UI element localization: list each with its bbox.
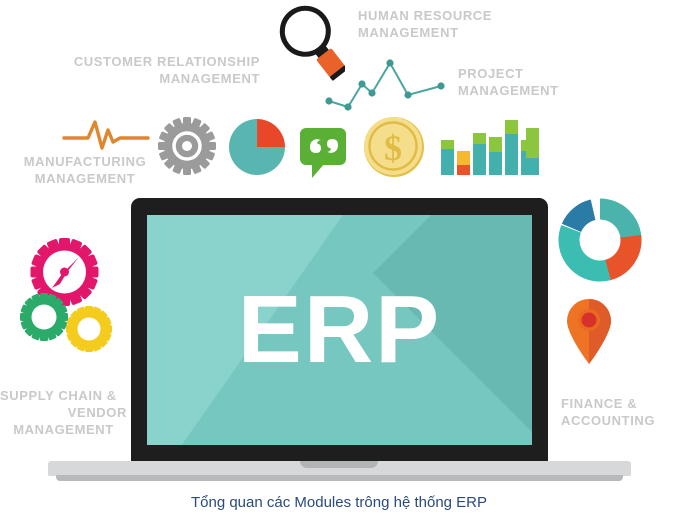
label-supply-chain-vendor-management: SUPPLY CHAIN & VENDOR MANAGEMENT (0, 388, 127, 439)
coin-dollar-icon: $ (363, 116, 425, 178)
gear-icon (158, 117, 216, 175)
erp-modules-infographic: CUSTOMER RELATIONSHIP MANAGEMENT HUMAN R… (0, 0, 678, 528)
laptop-base-top (48, 461, 631, 476)
bar-chart-icon-last-bar (525, 117, 541, 175)
label-finance-accounting: FINANCE & ACCOUNTING (561, 396, 678, 430)
pie-chart-icon (228, 118, 286, 176)
label-manufacturing-management: MANUFACTURING MANAGEMENT (5, 154, 165, 188)
scm-line-1: SUPPLY CHAIN & (0, 388, 127, 405)
laptop-base-notch (300, 461, 378, 468)
scm-line-2: VENDOR (0, 405, 127, 422)
label-project-management: PROJECT MANAGEMENT (458, 66, 658, 100)
laptop-base-bottom (56, 475, 623, 481)
svg-text:$: $ (384, 128, 402, 168)
laptop-lid: ERP (131, 198, 548, 463)
laptop-screen: ERP (147, 215, 532, 445)
speech-bubble-icon (300, 128, 350, 180)
donut-chart-icon (557, 197, 643, 283)
scm-line-3: MANAGEMENT (0, 422, 127, 439)
label-human-resource-management: HUMAN RESOURCE MANAGEMENT (358, 8, 558, 42)
caption: Tổng quan các Modules trông hệ thống ERP (0, 494, 678, 511)
pulse-icon (62, 116, 150, 156)
laptop-base (48, 461, 631, 483)
label-customer-relationship-management: CUSTOMER RELATIONSHIP MANAGEMENT (40, 54, 260, 88)
screen-title: ERP (147, 215, 532, 445)
map-pin-icon (565, 299, 613, 365)
line-chart-icon (322, 58, 448, 114)
bar-chart-icon (440, 117, 538, 175)
gears-group-icon (17, 233, 122, 358)
laptop: ERP (131, 198, 548, 463)
